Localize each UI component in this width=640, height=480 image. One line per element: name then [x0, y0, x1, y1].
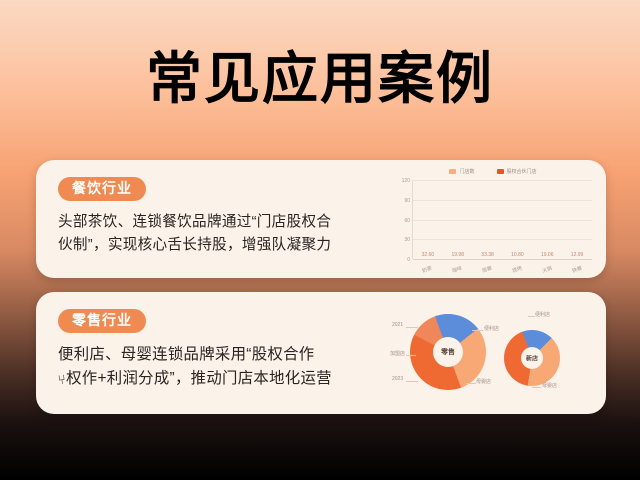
legend-swatch-icon: [497, 169, 504, 174]
card-body-text: 便利店、母婴连锁品牌采用“股权合作 ⑂权作+利润分成”，推动门店本地化运营: [58, 343, 374, 391]
y-axis-tick-0: 120: [402, 178, 413, 184]
leader-line: [472, 330, 483, 331]
x-axis-tick-label: 奶茶: [421, 265, 433, 275]
leader-line: [466, 383, 476, 384]
page-title: 常见应用案例: [0, 48, 640, 112]
donut-annotation-2: 2023: [392, 376, 403, 382]
donut-annotation-0: 2021: [392, 322, 403, 328]
card-body-line-2: 伙制”，实现核心舌长持股，增强队凝聚力: [58, 234, 374, 257]
case-card-catering[interactable]: 餐饮行业 头部茶饮、连锁餐饮品牌通过“门店股权合 伙制”，实现核心舌长持股，增强…: [36, 160, 606, 278]
card-chart-area: 零售 2021 加盟店 2023 便利店 母婴店 新店 便利店: [388, 292, 606, 414]
card-text-block: 餐饮行业 头部茶饮、连锁餐饮品牌通过“门店股权合 伙制”，实现核心舌长持股，增强…: [36, 160, 388, 278]
case-card-retail[interactable]: 零售行业 便利店、母婴连锁品牌采用“股权合作 ⑂权作+利润分成”，推动门店本地化…: [36, 292, 606, 414]
donut-chart-newstore: 新店: [504, 330, 560, 386]
card-text-block: 零售行业 便利店、母婴连锁品牌采用“股权合作 ⑂权作+利润分成”，推动门店本地化…: [36, 292, 388, 414]
leader-line: [532, 387, 541, 388]
chart-legend: 门店数 股权合伙门店: [392, 168, 594, 175]
legend-swatch-icon: [449, 169, 456, 174]
leader-line: [406, 327, 418, 328]
donut-annotation-1: 加盟店: [390, 350, 405, 357]
card-body-line-2: 权作+利润分成”，推动门店本地化运营: [66, 370, 332, 387]
donut-center-label: 零售: [410, 347, 486, 357]
bar-chart-plot: 120 90 60 30 0 32.6019.9833.3810.8019.06…: [412, 180, 592, 259]
card-chart-area: 门店数 股权合伙门店 120 90 60: [388, 160, 606, 278]
slide-canvas: 常见应用案例 餐饮行业 头部茶饮、连锁餐饮品牌通过“门店股权合 伙制”，实现核心…: [0, 0, 640, 480]
status-badge: 零售行业: [58, 309, 146, 333]
legend-item-1: 股权合伙门店: [497, 168, 537, 175]
y-axis-tick-1: 90: [404, 198, 413, 204]
x-axis-tick-label: 快餐: [571, 265, 583, 275]
leader-line: [406, 381, 418, 382]
donut-annotation-0: 便利店: [535, 311, 550, 318]
bar-value-label: 32.60: [422, 252, 435, 258]
card-body-line-1: 头部茶饮、连锁餐饮品牌通过“门店股权合: [58, 211, 374, 234]
bar-value-label: 10.80: [511, 252, 524, 258]
bar-value-label: 19.98: [451, 252, 464, 258]
bar-value-label: 12.99: [571, 252, 584, 258]
bar-chart: 门店数 股权合伙门店 120 90 60: [392, 166, 598, 274]
x-axis-tick-label: 简餐: [481, 265, 493, 275]
donut-annotation-3: 便利店: [484, 325, 499, 332]
donut-chart-group: 零售 2021 加盟店 2023 便利店 母婴店 新店 便利店: [392, 298, 598, 410]
status-badge: 餐饮行业: [58, 177, 146, 201]
card-body-line-2-wrap: ⑂权作+利润分成”，推动门店本地化运营: [58, 367, 374, 391]
legend-label-0: 门店数: [459, 168, 474, 175]
card-body-text: 头部茶饮、连锁餐饮品牌通过“门店股权合 伙制”，实现核心舌长持股，增强队凝聚力: [58, 211, 374, 256]
x-axis-tick-label: 烧烤: [511, 265, 523, 275]
donut-annotation-4: 母婴店: [476, 378, 491, 385]
legend-label-1: 股权合伙门店: [507, 168, 537, 175]
x-axis-tick-label: 火锅: [541, 265, 553, 275]
x-axis-tick-label: 咖啡: [451, 265, 463, 275]
x-axis-labels: 奶茶咖啡简餐烧烤火锅快餐: [412, 266, 592, 273]
bar-series-container: 32.6019.9833.3810.8019.0612.99: [413, 180, 592, 259]
legend-item-0: 门店数: [449, 168, 474, 175]
bar-value-label: 33.38: [481, 252, 494, 258]
gridline-baseline: 0: [413, 259, 592, 260]
y-axis-tick-3: 30: [404, 237, 413, 243]
bar-value-label: 19.06: [541, 252, 554, 258]
y-axis-tick-2: 60: [404, 218, 413, 224]
donut-chart-retail: 零售: [410, 314, 486, 390]
leader-line: [528, 316, 535, 317]
donut-annotation-1: 母婴店: [542, 382, 557, 389]
card-body-line-1: 便利店、母婴连锁品牌采用“股权合作: [58, 343, 374, 367]
donut-center-label: 新店: [504, 354, 560, 363]
